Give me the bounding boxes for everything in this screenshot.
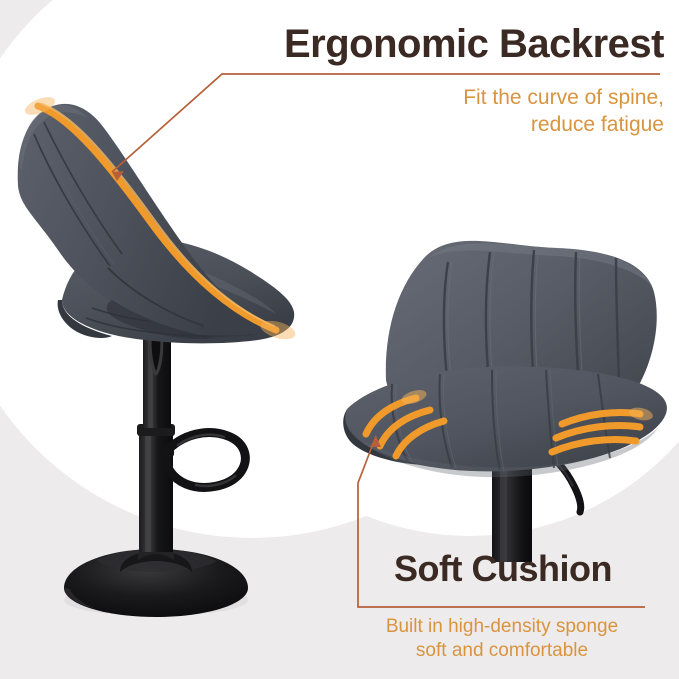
feature-title-soft-cushion: Soft Cushion [360, 548, 646, 590]
feature-subtitle-ergonomic-backrest: Fit the curve of spine, reduce fatigue [320, 84, 664, 138]
product-feature-graphic: Ergonomic Backrest Fit the curve of spin… [0, 0, 679, 679]
subtitle-line: Fit the curve of spine, [320, 84, 664, 111]
subtitle-line: reduce fatigue [320, 111, 664, 138]
subtitle-line: Built in high-density sponge [352, 615, 652, 639]
subtitle-line: soft and comfortable [352, 639, 652, 663]
feature-title-ergonomic-backrest: Ergonomic Backrest [216, 22, 664, 67]
feature-subtitle-soft-cushion: Built in high-density sponge soft and co… [352, 615, 652, 663]
